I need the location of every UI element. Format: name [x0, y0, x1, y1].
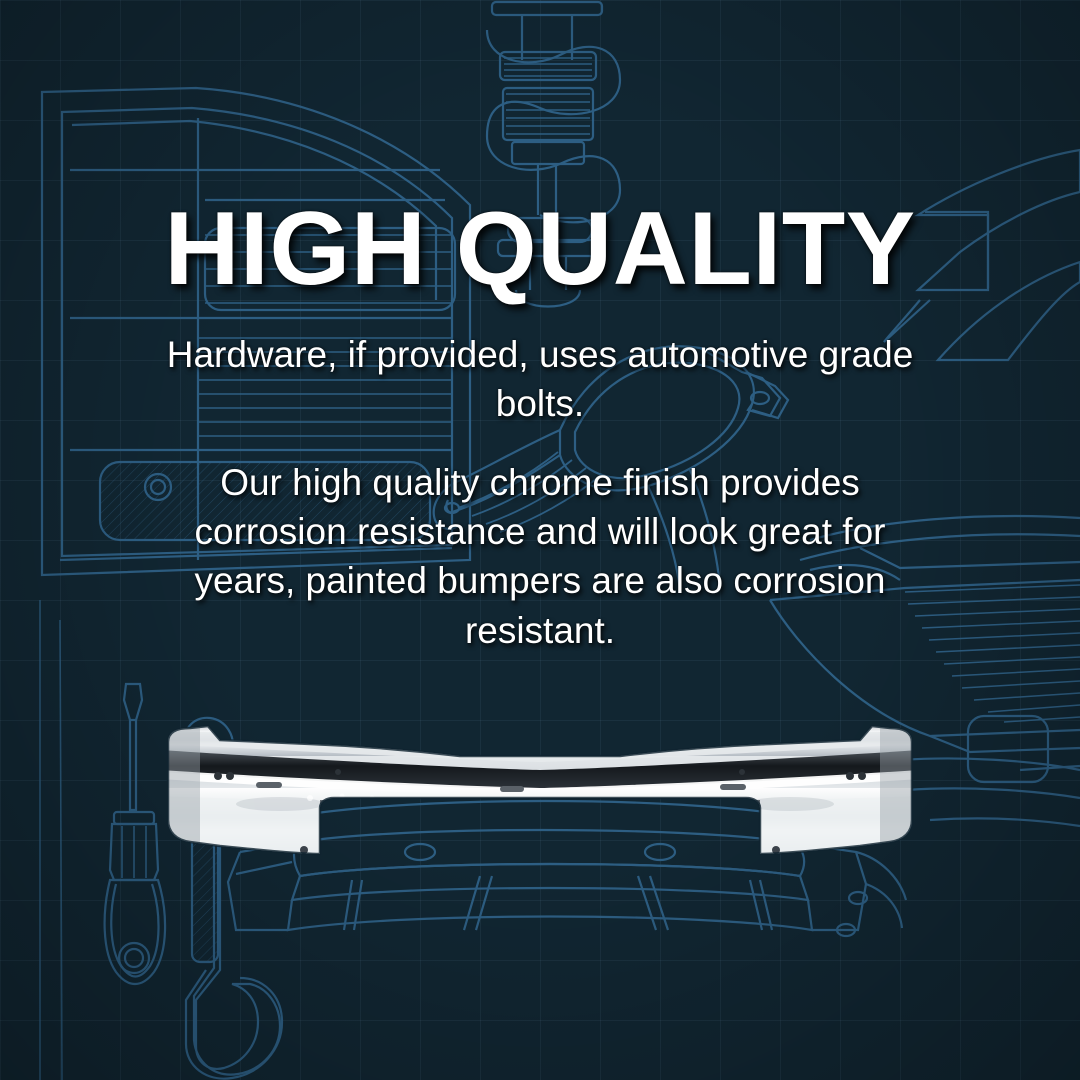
body-paragraph-2: Our high quality chrome finish provides … [140, 458, 940, 655]
page-title: HIGH QUALITY [0, 196, 1080, 302]
product-image-chrome-bumper [160, 700, 920, 900]
chrome-bumper-graphic [160, 700, 920, 900]
bp-side-rails [40, 600, 62, 1080]
marketing-image-canvas: HIGH QUALITY Hardware, if provided, uses… [0, 0, 1080, 1080]
body-paragraph-1: Hardware, if provided, uses automotive g… [140, 330, 940, 428]
bp-screwdriver [105, 684, 165, 984]
